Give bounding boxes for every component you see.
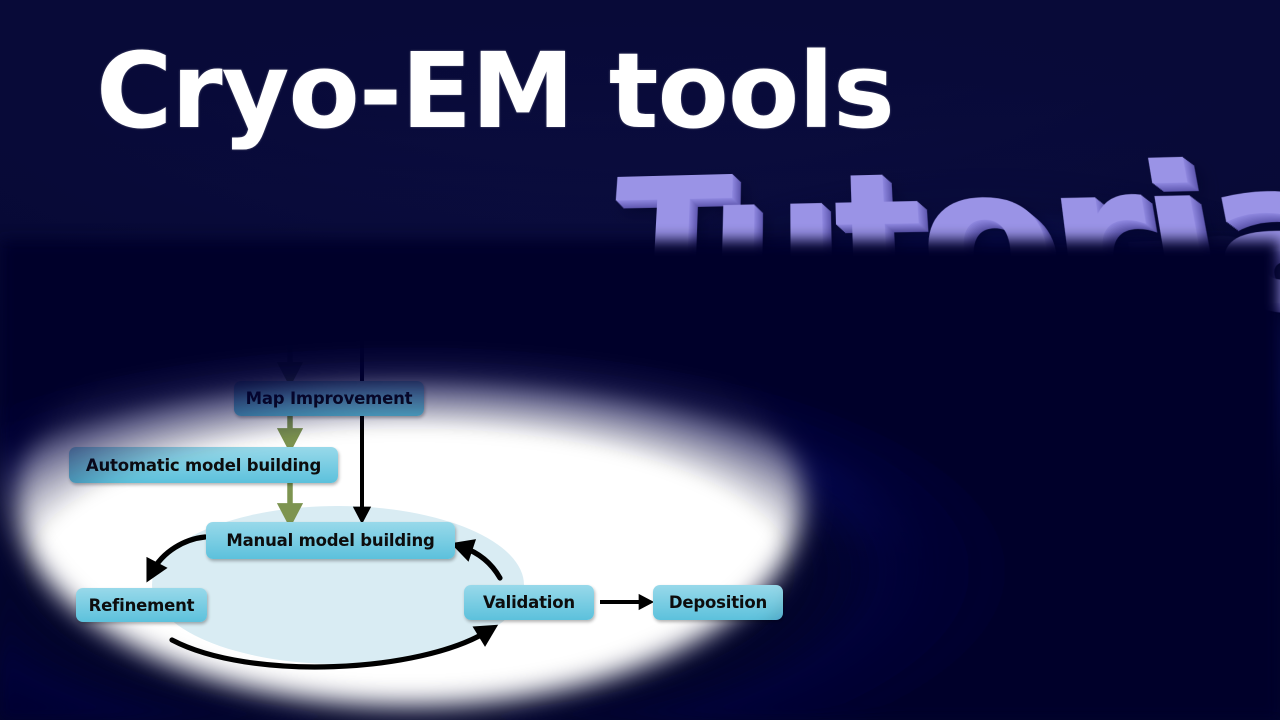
node-label: Validation <box>483 593 575 612</box>
node-automatic-model-building[interactable]: Automatic model building <box>69 447 338 483</box>
edge-black-refinement-to-validation <box>172 631 488 667</box>
node-manual-model-building[interactable]: Manual model building <box>206 522 455 559</box>
node-label: Map analysis <box>270 314 388 333</box>
cryoem-workflow-diagram: Map analysis Map Improvement Automatic m… <box>0 0 1280 720</box>
node-deposition[interactable]: Deposition <box>653 585 783 620</box>
node-map-improvement[interactable]: Map Improvement <box>234 381 424 416</box>
node-validation[interactable]: Validation <box>464 585 594 620</box>
edge-black-validation-to-manual <box>462 547 500 578</box>
node-label: Map Improvement <box>246 389 413 408</box>
node-label: Refinement <box>89 596 195 615</box>
node-map-analysis[interactable]: Map analysis <box>259 306 400 340</box>
slide-canvas: Tutorial Tutorial Cryo-EM tools <box>0 0 1280 720</box>
node-label: Automatic model building <box>86 456 321 475</box>
node-label: Manual model building <box>226 531 434 550</box>
edge-black-manual-to-refinement <box>152 537 205 572</box>
node-refinement[interactable]: Refinement <box>76 588 207 622</box>
node-label: Deposition <box>669 593 767 612</box>
